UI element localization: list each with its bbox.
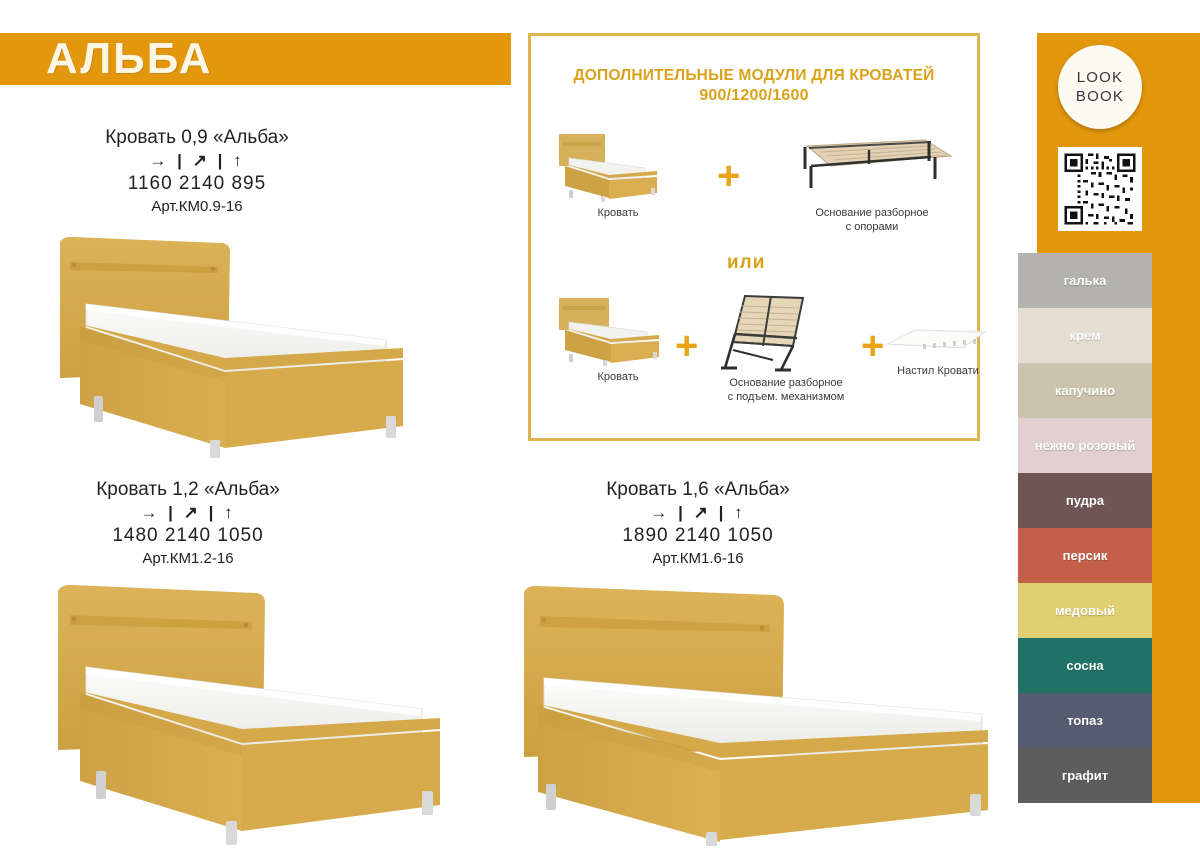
bed-09-article: Арт.КМ0.9-16: [32, 196, 362, 217]
swatch-krem[interactable]: крем: [1018, 308, 1152, 363]
fabric-colour-swatches: галька крем капучино нежно розовый пудра…: [1018, 253, 1152, 803]
bed-12-arrows: → | ↗ | ↑: [38, 502, 338, 524]
additional-modules-box: ДОПОЛНИТЕЛЬНЫЕ МОДУЛИ ДЛЯ КРОВАТЕЙ 900/1…: [528, 33, 980, 441]
module-row1-base-label-line2: с опорами: [777, 220, 967, 234]
swatch-label: персик: [1063, 548, 1108, 563]
bed-16-arrows: → | ↗ | ↑: [548, 502, 848, 524]
swatch-label: графит: [1062, 768, 1108, 783]
bed-12-title: Кровать 1,2 «Альба»: [38, 478, 338, 502]
bed-16-title: Кровать 1,6 «Альба»: [548, 478, 848, 502]
catalog-page: АЛЬБА Кровать 0,9 «Альба» → | ↗ | ↑ 1160…: [0, 0, 1200, 849]
bed-16-dimensions: 1890 2140 1050: [548, 524, 848, 548]
page-title: АЛЬБА: [46, 35, 213, 83]
module-bed-icon: [553, 130, 683, 202]
swatch-kapuchino[interactable]: капучино: [1018, 363, 1152, 418]
bed-12-article: Арт.КМ1.2-16: [38, 548, 338, 569]
module-row2-lift-label-line2: с подъем. механизмом: [711, 390, 861, 404]
swatch-label: пудра: [1066, 493, 1104, 508]
swatch-label: сосна: [1066, 658, 1103, 673]
swatch-nezhno-rozovyi[interactable]: нежно розовый: [1018, 418, 1152, 473]
swatch-medovyi[interactable]: медовый: [1018, 583, 1152, 638]
modules-title: ДОПОЛНИТЕЛЬНЫЕ МОДУЛИ ДЛЯ КРОВАТЕЙ 900/1…: [531, 66, 977, 106]
or-label: или: [727, 252, 765, 274]
modules-title-line1: ДОПОЛНИТЕЛЬНЫЕ МОДУЛИ ДЛЯ КРОВАТЕЙ: [531, 66, 977, 86]
modules-title-line2: 900/1200/1600: [531, 86, 977, 106]
module-row2-bed-label: Кровать: [553, 370, 683, 384]
bed-09-title: Кровать 0,9 «Альба»: [32, 126, 362, 150]
module-row2-lift-label-line1: Основание разборное: [711, 376, 861, 390]
lookbook-badge[interactable]: LOOK BOOK: [1058, 45, 1142, 129]
bed-deck-panel-icon: [879, 322, 997, 362]
bed-12-dimensions: 1480 2140 1050: [38, 524, 338, 548]
swatch-label: крем: [1069, 328, 1100, 343]
plus-icon-row1: +: [717, 156, 740, 196]
lookbook-line1: LOOK: [1077, 68, 1123, 87]
swatch-label: нежно розовый: [1035, 438, 1135, 453]
plus-icon-row2-a: +: [675, 326, 698, 366]
bed-09-arrows: → | ↗ | ↑: [32, 150, 362, 172]
module-row1-base: Основание разборное с опорами: [777, 136, 967, 234]
swatch-sosna[interactable]: сосна: [1018, 638, 1152, 693]
module-row1-bed: Кровать: [553, 130, 683, 220]
slatted-base-with-legs-icon: [777, 136, 967, 202]
bed-09-dimensions: 1160 2140 895: [32, 172, 362, 196]
module-row2-lift-base: Основание разборное с подъем. механизмом: [711, 290, 861, 404]
bed-12-spec: Кровать 1,2 «Альба» → | ↗ | ↑ 1480 2140 …: [38, 478, 338, 569]
qr-code[interactable]: [1058, 147, 1142, 231]
swatch-topaz[interactable]: топаз: [1018, 693, 1152, 748]
module-row2-deck-label: Настил Кровати: [879, 364, 997, 378]
lift-mechanism-base-icon: [711, 290, 861, 374]
bed-16-article: Арт.КМ1.6-16: [548, 548, 848, 569]
bed-09-image: [50, 228, 450, 458]
swatch-pudra[interactable]: пудра: [1018, 473, 1152, 528]
bed-09-spec: Кровать 0,9 «Альба» → | ↗ | ↑ 1160 2140 …: [32, 126, 362, 217]
bed-16-image: [510, 578, 1000, 846]
swatch-label: капучино: [1055, 383, 1115, 398]
swatch-persik[interactable]: персик: [1018, 528, 1152, 583]
module-row2-bed: Кровать: [553, 296, 683, 384]
module-row2-deck: Настил Кровати: [879, 322, 997, 378]
bed-16-spec: Кровать 1,6 «Альба» → | ↗ | ↑ 1890 2140 …: [548, 478, 848, 569]
swatch-label: медовый: [1055, 603, 1115, 618]
swatch-galka[interactable]: галька: [1018, 253, 1152, 308]
module-bed-icon-2: [553, 296, 683, 366]
module-row1-base-label-line1: Основание разборное: [777, 206, 967, 220]
lookbook-line2: BOOK: [1076, 87, 1124, 106]
swatch-label: топаз: [1067, 713, 1103, 728]
module-row1-bed-label: Кровать: [553, 206, 683, 220]
bed-12-image: [44, 575, 494, 845]
swatch-grafit[interactable]: графит: [1018, 748, 1152, 803]
swatch-label: галька: [1064, 273, 1107, 288]
